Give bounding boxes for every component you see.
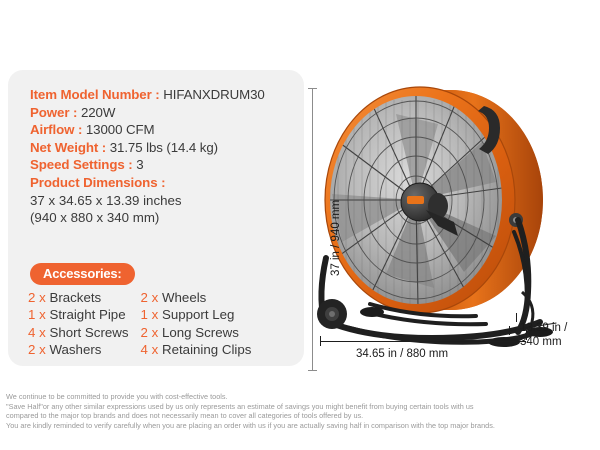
spec-value-model: HIFANXDRUM30 [163,87,265,102]
spec-value-speed: 3 [136,157,143,172]
accessory-row: 4 x Short Screws 2 x Long Screws [28,324,251,341]
spec-row-dimensions: Product Dimensions : [30,174,265,192]
height-dimension-cap-top [308,88,317,89]
height-dimension-line [312,88,313,370]
accessory-name: Support Leg [162,307,234,322]
disclaimer-line-3: compared to the major top brands and doe… [6,411,596,421]
specification-list: Item Model Number : HIFANXDRUM30 Power :… [30,86,265,227]
spec-row-power: Power : 220W [30,104,265,122]
accessory-item: 2 x Brackets [28,289,129,306]
disclaimer-footer: We continue to be committed to provide y… [6,392,596,430]
accessory-qty: 2 x [28,342,46,357]
accessory-name: Retaining Clips [162,342,251,357]
brand-badge [407,196,424,204]
accessory-qty: 1 x [141,307,159,322]
width-dimension-label: 34.65 in / 880 mm [356,348,448,362]
accessory-qty: 2 x [28,290,46,305]
accessory-name: Brackets [49,290,101,305]
spec-label-power: Power : [30,105,77,120]
disclaimer-line-4: You are kindly reminded to verify carefu… [6,421,596,431]
spec-value-weight: 31.75 lbs (14.4 kg) [110,140,218,155]
accessory-item: 2 x Long Screws [129,324,252,341]
spec-label-dimensions: Product Dimensions : [30,175,165,190]
accessory-row: 1 x Straight Pipe 1 x Support Leg [28,306,251,323]
height-dimension-label: 37 in / 940 mm [330,200,344,276]
drum-fan-illustration [308,60,600,365]
accessory-qty: 4 x [141,342,159,357]
accessory-name: Straight Pipe [49,307,125,322]
accessory-name: Short Screws [49,325,128,340]
depth-dimension-cap-left [509,326,510,335]
spec-label-weight: Net Weight : [30,140,106,155]
accessory-qty: 2 x [141,325,159,340]
spec-dimensions-inches: 37 x 34.65 x 13.39 inches [30,192,265,210]
spec-value-airflow: 13000 CFM [86,122,155,137]
product-photo: 37 in / 940 mm 34.65 in / 880 mm 13.39 i… [308,60,600,365]
width-dimension-cap-left [320,336,321,346]
accessories-list: 2 x Brackets 2 x Wheels 1 x Straight Pip… [28,289,251,359]
accessory-item: 2 x Washers [28,341,129,358]
spec-row-weight: Net Weight : 31.75 lbs (14.4 kg) [30,139,265,157]
disclaimer-line-2: "Save Half"or any other similar expressi… [6,402,596,412]
height-dimension-cap-bottom [308,370,317,371]
accessory-item: 2 x Wheels [129,289,252,306]
accessories-title-badge: Accessories: [30,263,135,285]
accessory-qty: 1 x [28,307,46,322]
spec-row-model: Item Model Number : HIFANXDRUM30 [30,86,265,104]
accessory-qty: 2 x [141,290,159,305]
specification-panel: Item Model Number : HIFANXDRUM30 Power :… [8,70,304,366]
spec-dimensions-mm: (940 x 880 x 340 mm) [30,209,265,227]
spec-row-airflow: Airflow : 13000 CFM [30,121,265,139]
disclaimer-line-1: We continue to be committed to provide y… [6,392,596,402]
accessory-qty: 4 x [28,325,46,340]
accessory-name: Wheels [162,290,206,305]
spec-label-airflow: Airflow : [30,122,82,137]
spec-row-speed: Speed Settings : 3 [30,156,265,174]
accessory-row: 2 x Brackets 2 x Wheels [28,289,251,306]
accessory-item: 4 x Retaining Clips [129,341,252,358]
spec-label-model: Item Model Number : [30,87,160,102]
spec-label-speed: Speed Settings : [30,157,133,172]
spec-value-power: 220W [81,105,115,120]
accessory-row: 2 x Washers 4 x Retaining Clips [28,341,251,358]
depth-dimension-label-inches: 13.39 in / [520,322,567,336]
accessory-name: Washers [49,342,101,357]
accessory-item: 1 x Support Leg [129,306,252,323]
wheel [317,299,347,329]
depth-dimension-label-mm: 340 mm [520,336,562,350]
width-dimension-line [320,341,526,342]
depth-dimension-cap-right [516,313,517,322]
product-spec-infographic: Item Model Number : HIFANXDRUM30 Power :… [0,0,600,450]
accessory-item: 4 x Short Screws [28,324,129,341]
accessory-name: Long Screws [162,325,239,340]
accessory-item: 1 x Straight Pipe [28,306,129,323]
